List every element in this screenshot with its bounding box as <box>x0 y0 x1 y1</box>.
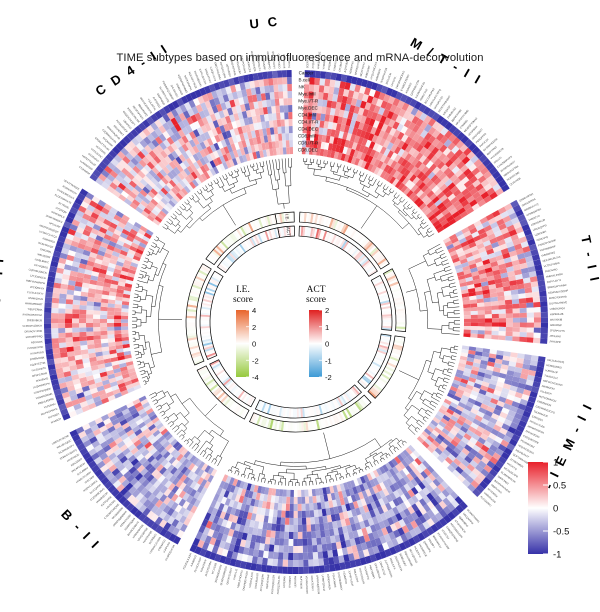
heatmap-cell <box>540 296 547 302</box>
heatmap-cell <box>505 304 512 309</box>
heatmap-cell <box>274 538 279 545</box>
heatmap-cell <box>464 311 471 315</box>
dendrogram-link <box>360 181 361 184</box>
heatmap-cell <box>313 503 318 510</box>
heatmap-cell <box>526 302 533 307</box>
heatmap-cell <box>107 311 114 315</box>
heatmap-cell <box>323 558 329 566</box>
sample-label: LCRBFQTGJZ <box>321 574 326 591</box>
sample-label: APEXPMF <box>550 324 562 327</box>
dendrogram-link <box>337 471 338 474</box>
dendrogram-link <box>364 174 368 182</box>
dendrogram-link <box>393 197 396 200</box>
sample-label: JYHILBHF <box>549 340 561 344</box>
heatmap-cell <box>287 77 292 84</box>
dendrogram-link <box>162 414 165 416</box>
dendrogram-link <box>276 189 278 204</box>
heatmap-cell <box>504 295 511 300</box>
dendrogram-link <box>424 235 428 238</box>
heatmap-cell <box>286 147 290 154</box>
heatmap-cell <box>273 120 278 127</box>
ring-cell <box>295 422 297 432</box>
dendrogram-link <box>148 373 151 374</box>
dendrogram-root <box>406 290 416 293</box>
dendrogram-link <box>181 214 187 219</box>
heatmap-cell <box>100 311 107 315</box>
heatmap-cell <box>114 327 121 331</box>
dendrogram-link <box>238 472 239 476</box>
heatmap-cell <box>273 78 278 85</box>
dendrogram-link <box>373 457 375 461</box>
dendrogram-link <box>178 224 181 226</box>
heatmap-cell <box>46 349 54 355</box>
dendrogram-link <box>182 204 186 208</box>
dendrogram-link <box>388 192 390 195</box>
heatmap-cell <box>294 490 298 497</box>
heatmap-cell <box>114 330 121 334</box>
dendrogram-link <box>444 385 447 386</box>
heatmap-cell <box>107 334 114 338</box>
dendrogram-link <box>425 413 430 416</box>
dendrogram-link <box>158 408 162 411</box>
dendrogram-link <box>431 379 436 381</box>
dendrogram-link <box>377 194 379 198</box>
heatmap-cell <box>288 567 293 574</box>
heatmap-cell <box>277 70 282 77</box>
dendrogram-link <box>214 460 216 464</box>
dendrogram-link <box>402 443 404 445</box>
dendrogram-link <box>209 456 212 461</box>
dendrogram-link <box>139 274 143 275</box>
dendrogram-link <box>241 168 243 173</box>
dendrogram-link <box>419 420 425 424</box>
dendrogram-link <box>440 253 445 255</box>
dendrogram-link <box>424 222 427 224</box>
dendrogram-link <box>450 352 457 353</box>
heatmap-cell <box>79 336 86 341</box>
heatmap-cell <box>512 336 519 341</box>
dendrogram-link <box>153 242 157 244</box>
ring-cell <box>200 322 210 324</box>
heatmap-cell <box>541 328 548 333</box>
heatmap-cell <box>270 99 275 106</box>
heatmap-cell <box>94 343 101 348</box>
dendrogram-link <box>237 172 239 176</box>
dendrogram-link <box>226 179 229 185</box>
heatmap-cell <box>52 338 59 344</box>
heatmap-cell <box>526 332 533 337</box>
heatmap-cell <box>305 504 309 511</box>
dendrogram-link <box>236 177 238 182</box>
sample-label: UCFEMKK <box>283 575 287 588</box>
dendrogram-link <box>426 231 428 232</box>
dendrogram-link <box>184 422 188 426</box>
heatmap-cell <box>46 354 54 360</box>
heatmap-cell <box>513 313 520 318</box>
dendrogram-link <box>436 396 441 399</box>
heatmap-cell <box>464 326 471 330</box>
dendrogram-link <box>253 167 254 171</box>
dendrogram-link <box>164 408 170 412</box>
dendrogram-link <box>407 208 409 210</box>
dendrogram-link <box>214 180 216 184</box>
ring-cell <box>186 322 196 324</box>
heatmap-cell <box>293 525 297 532</box>
heatmap-cell <box>280 112 284 119</box>
dendrogram-link <box>445 269 451 271</box>
dendrogram-link <box>343 165 345 170</box>
dendrogram-root <box>223 205 236 225</box>
heatmap-cell <box>72 309 79 314</box>
dendrogram-link <box>398 201 401 205</box>
dendrogram-link <box>423 419 426 421</box>
dendrogram-link <box>220 177 225 186</box>
heatmap-cell <box>290 490 294 497</box>
heatmap-cell <box>262 558 268 566</box>
dendrogram-link <box>353 474 354 476</box>
dendrogram-link <box>339 176 340 180</box>
sample-label: KXWAMQRF <box>261 55 266 70</box>
dendrogram-link <box>398 210 400 212</box>
heatmap-cell <box>281 119 285 126</box>
heatmap-cell <box>492 310 499 315</box>
heatmap-cell <box>463 308 470 312</box>
heatmap-cell <box>94 339 101 344</box>
heatmap-cell <box>520 323 527 328</box>
dendrogram-link <box>256 170 257 173</box>
heatmap-cell <box>513 323 520 328</box>
dendrogram-root <box>399 371 419 380</box>
dendrogram-link <box>149 392 155 395</box>
dendrogram-link <box>389 448 393 454</box>
heatmap-cell <box>87 301 94 306</box>
dendrogram-link <box>362 186 364 190</box>
heatmap-cell <box>94 302 101 307</box>
dendrogram-link <box>175 211 179 215</box>
heatmap-cell <box>309 77 315 84</box>
dendrogram-link <box>279 159 280 169</box>
dendrogram-link <box>210 437 214 443</box>
heatmap-cell <box>256 564 262 572</box>
heatmap-cell <box>527 323 534 328</box>
dendrogram-link <box>231 466 233 470</box>
heatmap-cell <box>115 304 122 308</box>
sample-label: VLTZCPSRKK <box>544 262 561 269</box>
heatmap-cell <box>58 318 65 323</box>
dendrogram-link <box>435 369 443 372</box>
heatmap-cell <box>290 147 293 154</box>
dendrogram-link <box>220 441 229 456</box>
heatmap-cell <box>107 315 114 319</box>
heatmap-cell <box>272 517 277 524</box>
heatmap-cell <box>289 133 293 140</box>
annotation-rings: I.E.ACT <box>186 212 406 432</box>
dendrogram-link <box>157 396 165 401</box>
heatmap-cell <box>270 92 275 99</box>
dendrogram-link <box>434 257 440 260</box>
sample-label: FGUKJWAM <box>331 573 336 588</box>
heatmap-cell <box>311 531 316 538</box>
heatmap-cell <box>93 319 100 323</box>
heatmap-cell <box>314 78 320 85</box>
heatmap-cell <box>478 318 485 322</box>
dendrogram-link <box>412 212 414 214</box>
heatmap-cell <box>86 319 93 323</box>
heatmap-cell <box>272 71 277 78</box>
dendrogram-link <box>417 214 419 216</box>
dendrogram-link <box>434 270 445 274</box>
dendrogram-link <box>368 180 370 183</box>
dendrogram-link <box>270 175 273 190</box>
heatmap-cell <box>65 309 72 314</box>
dendrogram-link <box>444 266 450 268</box>
sample-label: FCMMTRD <box>342 571 347 584</box>
dendrogram-link <box>167 221 171 224</box>
heatmap-cell <box>298 532 303 539</box>
dendrogram-link <box>138 277 142 278</box>
dendrogram-link <box>210 198 213 202</box>
dendrogram-link <box>165 224 169 227</box>
heatmap-cell <box>284 112 288 119</box>
heatmap-cell <box>298 511 302 518</box>
heatmap-cell <box>270 537 275 544</box>
heatmap-cell <box>47 281 55 287</box>
heatmap-cell <box>72 304 79 309</box>
ring-cell <box>186 318 196 320</box>
heatmap-cell <box>45 297 52 303</box>
heatmap-cell <box>277 559 283 566</box>
dendrogram-link <box>348 176 349 178</box>
heatmap-cell <box>66 337 73 342</box>
heatmap-cell <box>301 490 305 497</box>
dendrogram-link <box>184 440 186 442</box>
ring-cell <box>396 318 406 321</box>
heatmap-cell <box>73 346 80 351</box>
dendrogram-link <box>228 173 229 176</box>
dendrogram-link <box>278 169 279 179</box>
ring-cell <box>200 318 210 320</box>
dendrogram-link <box>164 391 168 393</box>
sample-label: KHKVLJZ <box>233 568 239 580</box>
dendrogram-link <box>420 399 424 401</box>
dendrogram-link <box>454 349 458 350</box>
heatmap-cell <box>498 335 505 340</box>
dendrogram-link <box>347 166 348 168</box>
dendrogram-link <box>380 460 381 462</box>
heatmap-cell <box>470 334 477 338</box>
heatmap-cell <box>257 557 263 565</box>
dendrogram-link <box>235 170 236 172</box>
sample-label: WVRUHQDDGM <box>315 575 320 594</box>
heatmap-cell <box>121 330 128 334</box>
heatmap-cell <box>44 318 51 323</box>
heatmap-cell <box>478 322 485 326</box>
dendrogram-link <box>146 267 150 269</box>
heatmap-cell <box>278 134 282 141</box>
heatmap-cell <box>297 490 301 497</box>
dendrogram-link <box>290 167 291 186</box>
heatmap-cell <box>492 331 499 336</box>
dendrogram-link <box>405 441 407 443</box>
sample-label: GDXVHMQPFD <box>266 51 271 69</box>
dendrogram-link <box>137 361 140 362</box>
heatmap-cell <box>284 105 288 112</box>
heatmap-cell <box>44 323 51 328</box>
dendrogram-link <box>253 475 254 478</box>
heatmap-cell <box>534 307 541 312</box>
heatmap-cell <box>283 553 288 560</box>
heatmap-cell <box>301 497 305 504</box>
dendrogram-link <box>434 393 437 395</box>
heatmap-cell <box>58 313 65 318</box>
heatmap-cell <box>282 77 287 84</box>
heatmap-cell <box>282 133 286 140</box>
heatmap-cell <box>308 552 313 559</box>
sample-label: BMDKLWYVNNF <box>547 284 567 290</box>
dendrogram-link <box>182 437 185 440</box>
dendrogram-link <box>148 280 153 281</box>
heatmap-cell <box>485 326 492 330</box>
dendrogram-link <box>435 247 441 250</box>
dendrogram-link <box>151 395 157 398</box>
heatmap-cell <box>276 517 281 524</box>
heatmap-cell <box>73 337 80 342</box>
dendrogram-link <box>376 453 377 455</box>
heatmap-cell <box>87 297 94 302</box>
dendrogram-link <box>397 195 400 199</box>
dendrogram-link <box>176 412 180 415</box>
dendrogram-link <box>356 473 357 475</box>
heatmap-cell <box>121 308 128 312</box>
heatmap-cell <box>268 551 274 558</box>
heatmap-cell <box>303 567 309 574</box>
heatmap-cell <box>540 338 547 344</box>
sample-label: XIYOWGH <box>289 576 292 588</box>
dendrogram-link <box>168 402 173 405</box>
dendrogram-link <box>418 227 422 230</box>
dendrogram-link <box>150 367 154 368</box>
heatmap-cell <box>463 333 470 337</box>
dendrogram-link <box>333 172 334 174</box>
dendrogram-link <box>432 401 438 405</box>
heatmap-cell <box>51 333 58 338</box>
heatmap-cell <box>58 328 65 333</box>
heatmap-cell <box>279 148 283 155</box>
heatmap-cell <box>505 300 512 305</box>
heatmap-cell <box>285 525 290 532</box>
sample-label: VDVMGUWXMI <box>305 576 309 594</box>
heatmap-cell <box>59 347 67 353</box>
heatmap-cell <box>314 566 320 573</box>
heatmap-cell <box>534 312 541 317</box>
heatmap-cell <box>108 338 115 343</box>
sample-label: RYOHSQEUSZR <box>271 575 276 595</box>
heatmap-cell <box>79 332 86 337</box>
dendrogram-root <box>205 404 217 416</box>
heatmap-cell <box>285 133 289 140</box>
dendrogram-link <box>438 390 444 393</box>
ring-cell <box>297 422 299 432</box>
heatmap-cell <box>321 537 326 545</box>
heatmap-cell <box>287 70 292 77</box>
sample-label: UAMUBUCNT <box>254 572 259 589</box>
dendrogram-link <box>389 188 391 191</box>
dendrogram-link <box>394 449 396 452</box>
dendrogram-link <box>444 378 449 380</box>
dendrogram-link <box>436 279 441 281</box>
dendrogram-link <box>340 474 341 478</box>
heatmap-cell <box>79 314 86 319</box>
heatmap-cell <box>284 539 289 546</box>
heatmap-cell <box>100 331 107 335</box>
dendrogram-link <box>337 163 338 166</box>
dendrogram-link <box>200 189 202 192</box>
heatmap-cell <box>313 552 319 559</box>
heatmap-cell <box>298 518 302 525</box>
heatmap-cell <box>93 315 100 319</box>
heatmap-cell <box>73 295 80 300</box>
heatmap-cell <box>303 560 308 567</box>
heatmap-cell <box>302 511 306 518</box>
dendrogram-link <box>275 480 276 485</box>
dendrogram-link <box>173 418 178 422</box>
dendrogram-link <box>188 203 191 206</box>
heatmap-cell <box>298 525 302 532</box>
heatmap-cell <box>288 560 293 567</box>
heatmap-cell <box>324 565 330 573</box>
heatmap-cell <box>287 84 292 91</box>
dendrogram-link <box>427 410 432 413</box>
dendrogram-link <box>418 413 424 418</box>
heatmap-cell <box>293 518 297 525</box>
heatmap-cell <box>279 91 284 98</box>
dendrogram-link <box>448 365 454 367</box>
dendrogram-link <box>256 180 257 184</box>
heatmap-cell <box>93 310 100 314</box>
dendrogram-link <box>156 391 162 394</box>
heatmap-cell <box>499 327 506 332</box>
heatmap-cell <box>122 337 129 341</box>
heatmap-cell <box>289 525 294 532</box>
heatmap-cell <box>44 333 51 339</box>
heatmap-cell <box>319 78 325 86</box>
heatmap-cell <box>471 330 478 334</box>
dendrogram-link <box>201 193 206 200</box>
heatmap-cell <box>499 309 506 314</box>
heatmap-cell <box>266 565 272 573</box>
heatmap-cell <box>320 530 325 538</box>
heatmap-cell <box>293 560 298 567</box>
heatmap-cell <box>491 305 498 310</box>
heatmap-cell <box>499 323 506 327</box>
heatmap-cell <box>310 517 315 524</box>
dendrogram-link <box>408 428 415 435</box>
heatmap-cell <box>470 303 477 307</box>
heatmap-cell <box>93 335 100 340</box>
heatmap-cell <box>289 532 294 539</box>
heatmap-cell <box>519 303 526 308</box>
heatmap-cell <box>306 511 310 518</box>
heatmap-cell <box>286 504 290 511</box>
heatmap-cell <box>277 120 281 127</box>
dendrogram-link <box>424 391 432 395</box>
dendrogram-link <box>195 446 199 451</box>
heatmap-cell <box>272 113 277 120</box>
heatmap-cell <box>114 315 121 319</box>
sample-label: LEXKGIW <box>294 575 297 587</box>
dendrogram-link <box>198 201 204 208</box>
dendrogram-link <box>244 166 246 171</box>
